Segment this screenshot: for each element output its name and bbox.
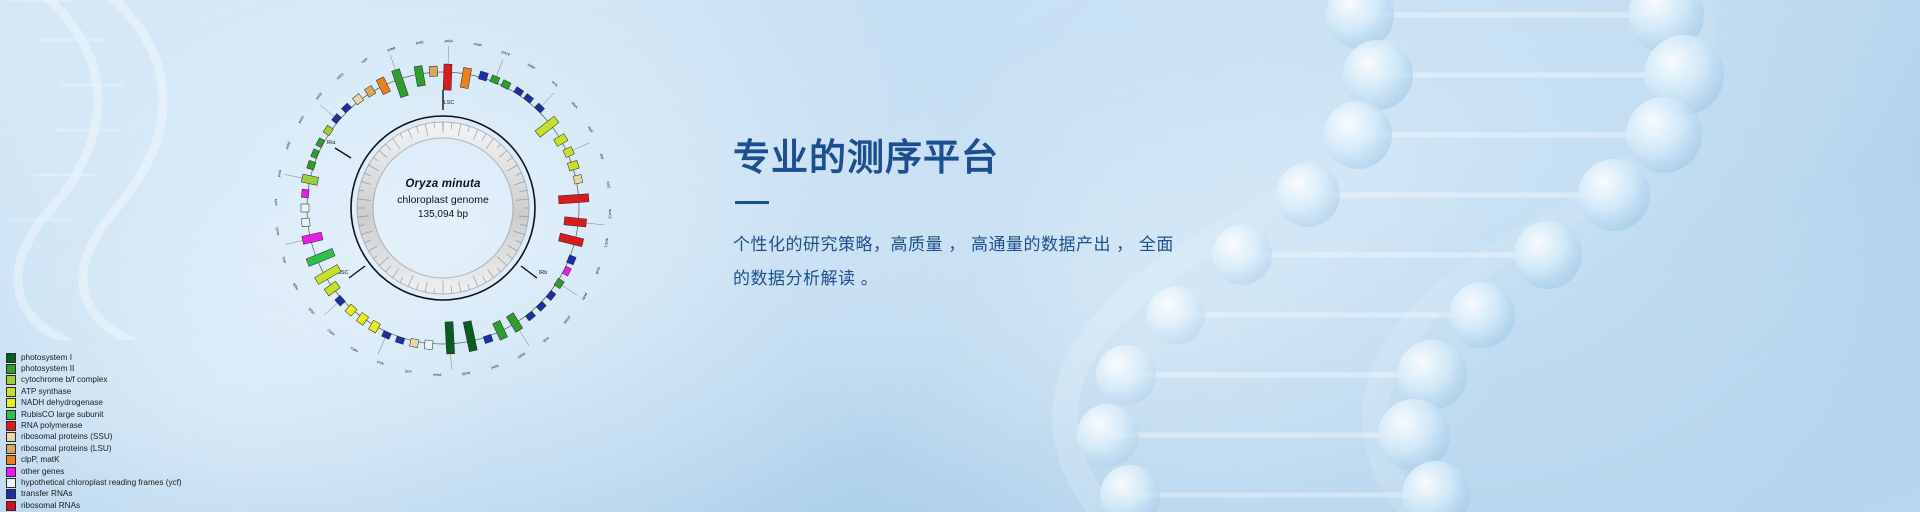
legend-color-swatch: [6, 501, 16, 511]
legend-item-label: ribosomal proteins (SSU): [21, 433, 112, 441]
svg-text:LSC: LSC: [444, 100, 455, 106]
legend-item: ribosomal proteins (LSU): [6, 443, 306, 454]
svg-text:atpA: atpA: [571, 101, 579, 110]
sequencing-platform-banner: LSC IRb SSC IRa: [0, 0, 1920, 512]
svg-text:psaA: psaA: [432, 373, 441, 377]
svg-text:rbcL: rbcL: [281, 256, 287, 264]
legend-color-swatch: [6, 489, 16, 499]
svg-text:rps4: rps4: [376, 360, 384, 366]
svg-text:psbK: psbK: [527, 63, 537, 71]
legend-color-swatch: [6, 432, 16, 442]
svg-text:psbE: psbE: [285, 140, 292, 150]
svg-text:psbC: psbC: [490, 364, 500, 371]
svg-text:ycf4: ycf4: [274, 199, 278, 206]
svg-text:ndhC: ndhC: [326, 327, 335, 336]
subtitle-line-2: 的数据分析解读 。: [733, 269, 878, 288]
legend-item-label: RNA polymerase: [21, 422, 82, 430]
svg-text:rpl33: rpl33: [315, 92, 323, 101]
svg-text:matK: matK: [473, 42, 483, 48]
legend-item-label: RubisCO large subunit: [21, 411, 103, 419]
legend-color-swatch: [6, 353, 16, 363]
svg-text:rps2: rps2: [606, 181, 611, 188]
svg-text:IRb: IRb: [539, 270, 547, 276]
legend-item: other genes: [6, 466, 306, 477]
title-underline-rule: [735, 201, 769, 204]
legend-item-label: ATP synthase: [21, 388, 71, 396]
legend-item-label: clpP, matK: [21, 456, 60, 464]
svg-text:rps16: rps16: [501, 50, 511, 57]
legend-color-swatch: [6, 455, 16, 465]
legend-color-swatch: [6, 398, 16, 408]
banner-subtitle: 个性化的研究策略，高质量 ， 高通量的数据产出 ， 全面 的数据分析解读 。: [733, 228, 1263, 296]
legend-item-label: NADH dehydrogenase: [21, 399, 103, 407]
svg-text:psaB: psaB: [461, 371, 470, 376]
legend-item: ribosomal RNAs: [6, 500, 306, 511]
legend-item-label: other genes: [21, 468, 64, 476]
legend-color-swatch: [6, 375, 16, 385]
legend-color-swatch: [6, 410, 16, 420]
svg-text:atpF: atpF: [587, 125, 594, 134]
svg-text:trnS: trnS: [551, 80, 559, 88]
svg-text:ycf3: ycf3: [405, 369, 412, 374]
legend-item: photosystem II: [6, 363, 306, 374]
legend-item: cytochrome b/f complex: [6, 375, 306, 386]
legend-item: hypothetical chloroplast reading frames …: [6, 477, 306, 488]
legend-item: ATP synthase: [6, 386, 306, 397]
svg-text:atpE: atpE: [307, 306, 315, 315]
legend-item-label: ribosomal RNAs: [21, 502, 80, 510]
subtitle-line-1: 个性化的研究策略，高质量 ， 高通量的数据产出 ， 全面: [733, 235, 1174, 254]
page-title: 专业的测序平台: [733, 138, 1433, 179]
legend-item-label: photosystem I: [21, 354, 72, 362]
svg-text:rpoC1: rpoC1: [603, 238, 609, 248]
svg-text:rpoB: rpoB: [594, 266, 601, 275]
legend-item: clpP, matK: [6, 455, 306, 466]
svg-text:petA: petA: [277, 169, 283, 178]
svg-text:rpoC2: rpoC2: [608, 209, 612, 219]
legend-item: ribosomal proteins (SSU): [6, 432, 306, 443]
svg-text:IRa: IRa: [327, 140, 335, 146]
legend-color-swatch: [6, 421, 16, 431]
svg-text:ndhJ: ndhJ: [350, 346, 359, 354]
legend-color-swatch: [6, 467, 16, 477]
legend-item: NADH dehydrogenase: [6, 398, 306, 409]
svg-text:petG: petG: [298, 115, 306, 124]
svg-text:trnE: trnE: [542, 336, 550, 344]
legend-item-label: transfer RNAs: [21, 490, 72, 498]
legend-color-swatch: [6, 478, 16, 488]
legend-item: RubisCO large subunit: [6, 409, 306, 420]
genome-legend: photosystem Iphotosystem IIcytochrome b/…: [6, 352, 306, 511]
legend-color-swatch: [6, 387, 16, 397]
svg-text:petN: petN: [581, 292, 589, 301]
legend-item: RNA polymerase: [6, 420, 306, 431]
dna-strand-decoration-left: [0, 0, 280, 340]
svg-text:atpB: atpB: [292, 282, 299, 291]
chloroplast-genome-map: LSC IRb SSC IRa: [243, 8, 643, 408]
svg-text:psbA: psbA: [445, 39, 454, 43]
svg-text:atpI: atpI: [599, 153, 605, 160]
legend-item-label: photosystem II: [21, 365, 74, 373]
svg-text:petD: petD: [416, 40, 424, 45]
legend-color-swatch: [6, 364, 16, 374]
banner-copy: 专业的测序平台 个性化的研究策略，高质量 ， 高通量的数据产出 ， 全面 的数据…: [733, 138, 1433, 296]
legend-item: photosystem I: [6, 352, 306, 363]
legend-color-swatch: [6, 444, 16, 454]
legend-item: transfer RNAs: [6, 489, 306, 500]
legend-item-label: cytochrome b/f complex: [21, 376, 107, 384]
svg-text:clpP: clpP: [361, 57, 370, 64]
svg-text:psbB: psbB: [387, 46, 397, 53]
svg-text:psbD: psbD: [516, 352, 526, 360]
legend-item-label: hypothetical chloroplast reading frames …: [21, 479, 182, 487]
svg-text:rpl20: rpl20: [336, 72, 345, 80]
svg-text:psbM: psbM: [563, 315, 572, 324]
legend-item-label: ribosomal proteins (LSU): [21, 445, 112, 453]
svg-text:accD: accD: [275, 227, 280, 236]
